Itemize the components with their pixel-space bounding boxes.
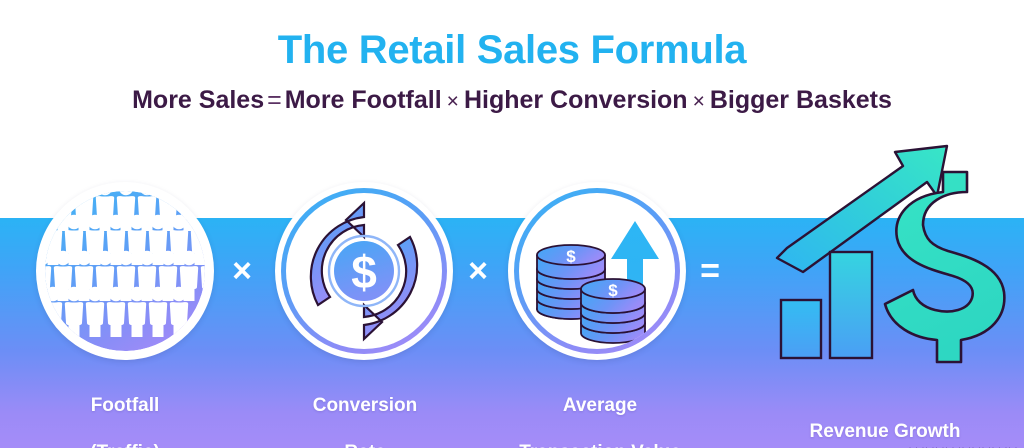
bar-small	[781, 300, 821, 358]
retail-sales-formula-infographic: The Retail Sales Formula More Sales=More…	[0, 0, 1024, 448]
operator-multiply-2: ×	[458, 254, 498, 288]
formula-term-higher-conversion: Higher Conversion	[464, 86, 688, 114]
item-average-transaction-value: $	[508, 182, 686, 360]
item-conversion-rate: $	[275, 182, 453, 360]
conversion-circle: $	[275, 182, 453, 360]
formula-multiply-operator-1: ×	[442, 90, 464, 113]
formula-term-more-sales: More Sales	[132, 86, 264, 114]
formula-line: More Sales=More Footfall×Higher Conversi…	[0, 86, 1024, 115]
footfall-circle	[36, 182, 214, 360]
label-atv-line2: Transaction Value	[490, 441, 710, 448]
growth-chart-dollar-icon	[755, 130, 1015, 370]
label-conversion-line2: Rate	[255, 441, 475, 448]
label-revenue-growth-line1: Revenue Growth	[755, 420, 1015, 444]
label-average-transaction-value: Average Transaction Value	[490, 370, 710, 448]
formula-term-more-footfall: More Footfall	[285, 86, 442, 114]
operator-equals: =	[690, 254, 730, 288]
item-revenue-growth	[755, 130, 1015, 370]
conversion-inner: $	[286, 193, 442, 349]
svg-text:$: $	[351, 246, 377, 298]
formula-term-bigger-baskets: Bigger Baskets	[710, 86, 892, 114]
label-footfall-line2: (Traffic)	[15, 441, 235, 448]
label-revenue-growth: Revenue Growth	[755, 396, 1015, 448]
item-footfall	[36, 182, 214, 360]
bar-large	[830, 252, 872, 358]
label-footfall-line1: Footfall	[15, 394, 235, 418]
label-conversion-rate: Conversion Rate	[255, 370, 475, 448]
formula-equals-operator: =	[264, 86, 285, 114]
svg-text:$: $	[608, 281, 618, 300]
page-title: The Retail Sales Formula	[0, 28, 1024, 73]
formula-multiply-operator-2: ×	[688, 90, 710, 113]
footfall-white-ring	[40, 186, 210, 356]
label-atv-line1: Average	[490, 394, 710, 418]
coin-stacks-up-arrow-icon: $	[519, 193, 675, 349]
watermark-text: · · ·· ·· ·· · ·· ·· ·· ·· · ·· ·	[909, 442, 1018, 448]
atv-inner: $	[519, 193, 675, 349]
svg-text:$: $	[566, 247, 576, 266]
cycle-arrows-dollar-coin-icon: $	[286, 193, 442, 349]
label-conversion-line1: Conversion	[255, 394, 475, 418]
label-footfall: Footfall (Traffic)	[15, 370, 235, 448]
operator-multiply-1: ×	[222, 254, 262, 288]
atv-circle: $	[508, 182, 686, 360]
